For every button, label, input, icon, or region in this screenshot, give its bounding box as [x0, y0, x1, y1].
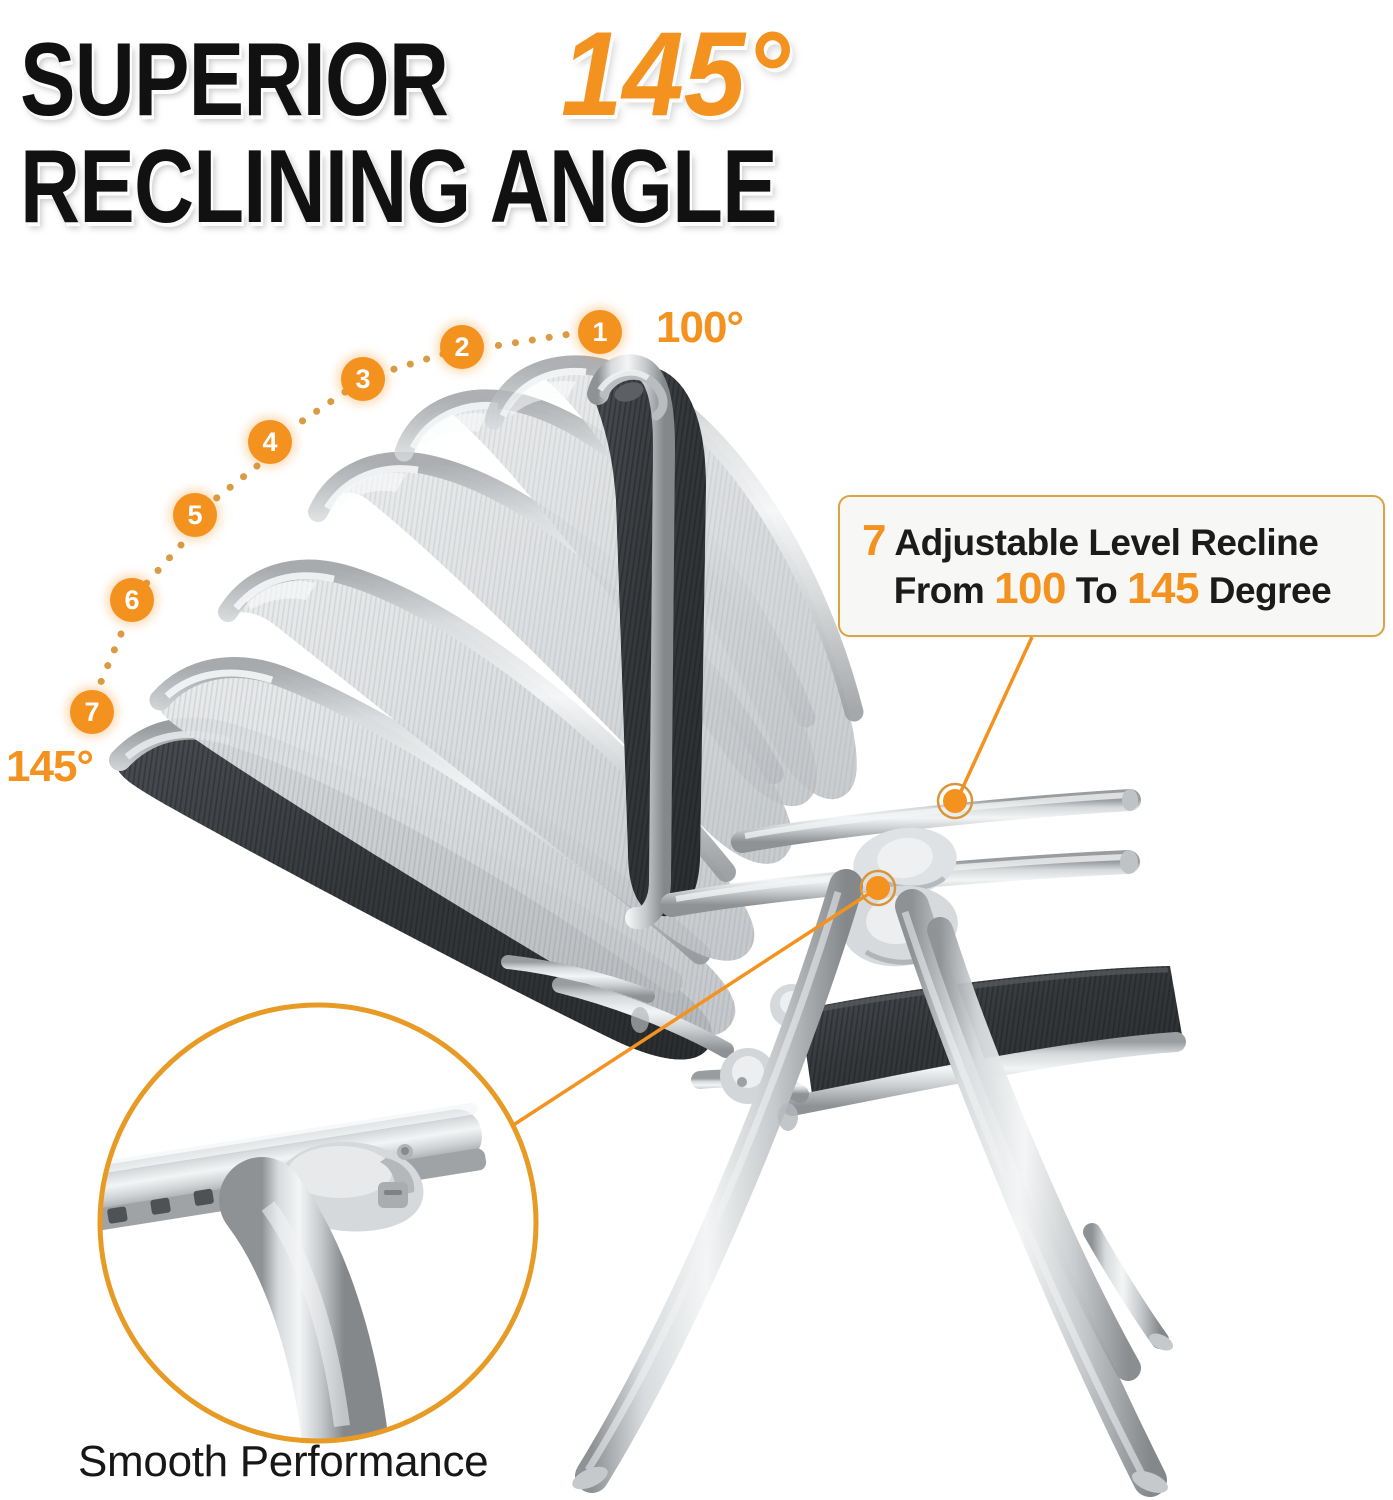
callout-to-value: 145: [1127, 564, 1199, 613]
step-badge-4: 4: [248, 420, 292, 464]
chair-illustration: [0, 0, 1393, 1500]
step-badge-label: 2: [454, 332, 469, 363]
step-badge-label: 1: [592, 317, 607, 348]
angle-label-end: 145°: [6, 742, 93, 792]
step-badge-1: 1: [578, 310, 622, 354]
step-badge-3: 3: [341, 357, 385, 401]
step-badge-label: 5: [187, 500, 202, 531]
step-badge-label: 3: [355, 364, 370, 395]
callout-from-value: 100: [994, 564, 1066, 613]
infographic-stage: SUPERIOR145° RECLINING ANGLE: [0, 0, 1393, 1500]
detail-inset-caption: Smooth Performance: [78, 1437, 488, 1487]
callout-leader-line: [957, 637, 1032, 800]
callout-to-word: To: [1076, 570, 1117, 611]
step-badge-7: 7: [70, 690, 114, 734]
callout-degree-word: Degree: [1209, 570, 1331, 611]
callout-line-1: 7 Adjustable Level Recline: [862, 517, 1367, 565]
callout-line-2: From 100 To 145 Degree: [862, 565, 1367, 613]
angle-label-start-text: 100°: [656, 303, 743, 352]
angle-label-start: 100°: [656, 303, 743, 353]
inset-marker-dot: [866, 876, 890, 900]
step-badge-5: 5: [173, 493, 217, 537]
callout-count-text: Adjustable Level Recline: [894, 522, 1318, 563]
step-badge-6: 6: [110, 578, 154, 622]
step-badge-2: 2: [440, 325, 484, 369]
callout-count: 7: [862, 516, 886, 565]
step-badge-label: 4: [262, 427, 277, 458]
step-badge-label: 6: [124, 585, 139, 616]
callout-from-word: From: [894, 570, 985, 611]
step-badge-label: 7: [84, 697, 99, 728]
callout-marker-dot: [943, 789, 967, 813]
angle-label-end-text: 145°: [6, 742, 93, 791]
recline-callout-box: 7 Adjustable Level Recline From 100 To 1…: [838, 495, 1385, 637]
detail-inset-circle: [62, 1005, 536, 1441]
